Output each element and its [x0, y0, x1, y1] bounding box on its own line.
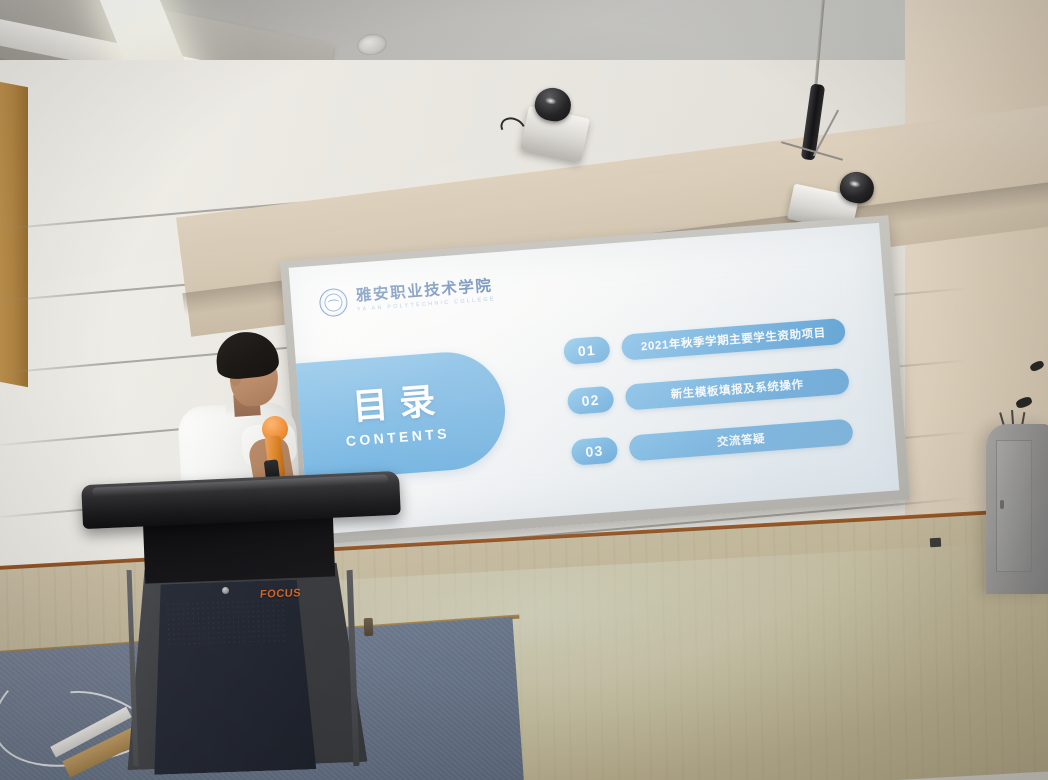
wall-outlet — [930, 538, 941, 548]
college-name-block: 雅安职业技术学院 YA AN POLYTECHNIC COLLEGE — [355, 278, 496, 313]
slide-logo: 雅安职业技术学院 YA AN POLYTECHNIC COLLEGE — [318, 276, 496, 317]
cabinet-handle-icon[interactable] — [1000, 500, 1004, 509]
presenter-hair — [214, 329, 280, 381]
college-seal-icon — [318, 288, 348, 318]
podium-speaker-grille — [165, 598, 284, 646]
lectern-podium[interactable]: FOCUS — [78, 470, 408, 780]
contents-title-cn: 目录 — [340, 382, 447, 426]
podium-lock-icon[interactable] — [222, 587, 229, 594]
wall-pilaster — [0, 81, 28, 388]
contents-title-en: CONTENTS — [342, 425, 450, 449]
agenda-number-badge: 02 — [567, 386, 615, 415]
agenda-item-label: 交流答疑 — [628, 419, 853, 462]
lecture-hall-photo: 雅安职业技术学院 YA AN POLYTECHNIC COLLEGE 目录 CO… — [0, 0, 1048, 780]
agenda-item: 02 新生模板填报及系统操作 — [567, 368, 850, 415]
podium-brand-label: FOCUS — [260, 587, 302, 600]
agenda-number-badge: 03 — [571, 436, 619, 465]
agenda-item: 01 2021年秋季学期主要学生资助项目 — [563, 318, 846, 365]
agenda-item-label: 2021年秋季学期主要学生资助项目 — [621, 318, 846, 361]
agenda-number-badge: 01 — [563, 336, 611, 365]
agenda-item-label: 新生模板填报及系统操作 — [625, 368, 850, 411]
agenda-item: 03 交流答疑 — [571, 419, 854, 466]
podium-side-tab — [364, 618, 374, 636]
